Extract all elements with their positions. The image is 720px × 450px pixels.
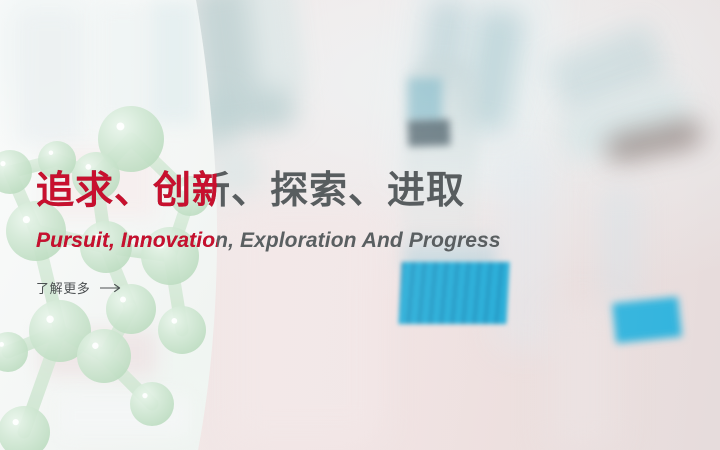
page-subtitle: Pursuit, Innovation, Exploration And Pro… xyxy=(36,228,696,254)
headline-base-text: 追求、创新、探索、进取 xyxy=(36,170,465,212)
arrow-right-icon xyxy=(100,283,122,293)
banner-copy: 追求、创新、探索、进取 追求、创新、探索、进取 Pursuit, Innovat… xyxy=(36,168,696,298)
hero-banner: 追求、创新、探索、进取 追求、创新、探索、进取 Pursuit, Innovat… xyxy=(0,0,720,450)
subtitle-base-text: Pursuit, Innovation, Exploration And Pro… xyxy=(36,229,501,252)
learn-more-label: 了解更多 xyxy=(36,278,90,297)
learn-more-link[interactable]: 了解更多 xyxy=(36,278,122,297)
page-title: 追求、创新、探索、进取 追求、创新、探索、进取 xyxy=(36,168,696,214)
